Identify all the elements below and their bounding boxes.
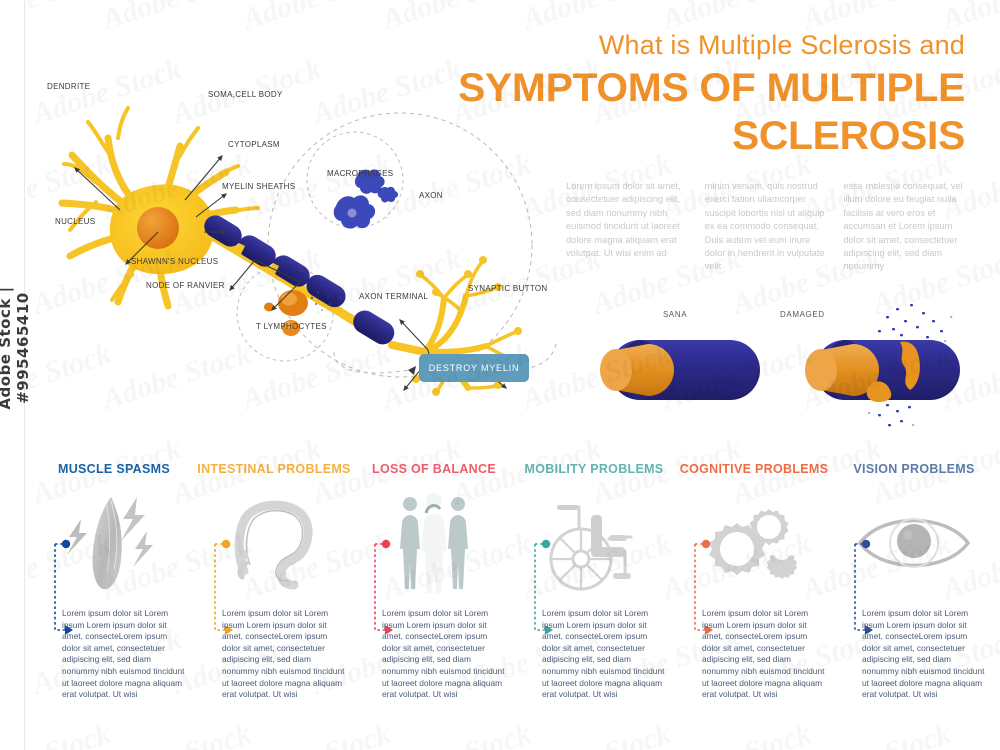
damaged-myelin — [805, 340, 960, 402]
destroy-myelin-label: DESTROY MYELIN — [429, 363, 520, 373]
myelin-comparison: SANA DAMAGED — [600, 300, 990, 430]
macrophage-cells — [334, 169, 398, 228]
label-axon: AXON — [419, 191, 443, 200]
label-axon-terminal: AXON TERMINAL — [359, 292, 428, 301]
symptom-title: COGNITIVE PROBLEMS — [674, 462, 834, 476]
label-t-lymphocytes: T LYMPHOCYTES — [256, 322, 327, 331]
symptom-card-1[interactable]: INTESTINAL PROBLEMS Lorem ipsum dolor si… — [194, 450, 354, 750]
intro-column-3: esse molestie consequat, vel illum dolor… — [843, 180, 966, 274]
symptom-title: INTESTINAL PROBLEMS — [194, 462, 354, 476]
page-title: What is Multiple Sclerosis and SYMPTOMS … — [420, 28, 965, 160]
intro-column-2: minim veniam, quis nostrud exerci tation… — [705, 180, 828, 274]
symptom-card-5[interactable]: VISION PROBLEMS Lorem ipsum dolor sit Lo… — [834, 450, 994, 750]
symptom-body-text: Lorem ipsum dolor sit Lorem ipsum Lorem … — [542, 608, 668, 701]
infographic-canvas: DENDRITE SOMA,CELL BODY CYTOPLASM MYELIN… — [0, 0, 1000, 750]
label-damaged: DAMAGED — [780, 310, 825, 319]
label-dendrite: DENDRITE — [47, 82, 90, 91]
destroy-myelin-button[interactable]: DESTROY MYELIN — [419, 354, 529, 382]
myelin-comparison-illustration — [600, 300, 990, 430]
stock-sidebar-label: Adobe Stock | #995465410 — [0, 248, 32, 448]
symptom-title: MUSCLE SPASMS — [34, 462, 194, 476]
label-cytoplasm: CYTOPLASM — [228, 140, 280, 149]
intro-paragraphs: Lorem ipsum dolor sit amet, consectetuer… — [566, 180, 966, 274]
intro-column-1: Lorem ipsum dolor sit amet, consectetuer… — [566, 180, 689, 274]
watermark-tile: Adobe Stock — [99, 0, 256, 37]
stock-sidebar: Adobe Stock | #995465410 — [0, 0, 25, 750]
symptom-title: VISION PROBLEMS — [834, 462, 994, 476]
symptom-body-text: Lorem ipsum dolor sit Lorem ipsum Lorem … — [382, 608, 508, 701]
watermark-tile: Adobe Stock — [239, 0, 396, 37]
title-mainline: SYMPTOMS OF MULTIPLE SCLEROSIS — [409, 64, 965, 160]
symptom-card-2[interactable]: LOSS OF BALANCE Lorem ipsum dolor sit Lo… — [354, 450, 514, 750]
label-synaptic-button: SYNAPTIC BUTTON — [468, 284, 547, 293]
label-myelin-sheaths: MYELIN SHEATHS — [222, 182, 295, 191]
symptom-card-0[interactable]: MUSCLE SPASMS Lorem ipsum dolor sit Lore… — [34, 450, 194, 750]
label-shawnns-nucleus: SHAWNN'S NUCLEUS — [131, 257, 218, 266]
label-nucleus: NUCLEUS — [55, 217, 95, 226]
symptom-body-text: Lorem ipsum dolor sit Lorem ipsum Lorem … — [862, 608, 988, 701]
label-soma: SOMA,CELL BODY — [208, 90, 283, 99]
label-macrophages: MACROPHAGES — [327, 169, 393, 178]
label-node-of-ranvier: NODE OF RANVIER — [146, 281, 225, 290]
symptom-title: MOBILITY PROBLEMS — [514, 462, 674, 476]
symptom-body-text: Lorem ipsum dolor sit Lorem ipsum Lorem … — [702, 608, 828, 701]
symptom-card-3[interactable]: MOBILITY PROBLEMS — [514, 450, 674, 750]
label-sana: SANA — [663, 310, 687, 319]
symptom-body-text: Lorem ipsum dolor sit Lorem ipsum Lorem … — [62, 608, 188, 701]
symptoms-section: MUSCLE SPASMS Lorem ipsum dolor sit Lore… — [34, 450, 1000, 750]
symptom-card-4[interactable]: COGNITIVE PROBLEMS Lorem ipsum dolor sit… — [674, 450, 834, 750]
symptom-body-text: Lorem ipsum dolor sit Lorem ipsum Lorem … — [222, 608, 348, 701]
healthy-myelin — [600, 340, 760, 400]
symptom-title: LOSS OF BALANCE — [354, 462, 514, 476]
title-subline: What is Multiple Sclerosis and — [420, 28, 965, 62]
